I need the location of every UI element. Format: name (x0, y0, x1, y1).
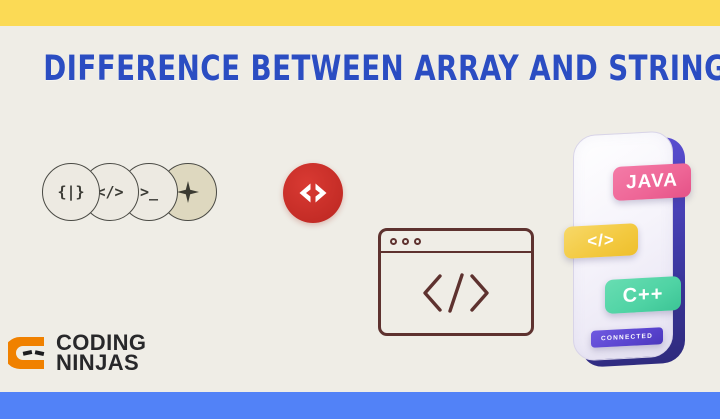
browser-code-window (378, 228, 534, 336)
chip-cpp-label: C++ (623, 282, 664, 307)
browser-content-area (381, 253, 531, 333)
browser-dot-1 (390, 238, 397, 245)
bottom-accent-band (0, 392, 720, 419)
browser-dot-3 (414, 238, 421, 245)
chip-code: </> (564, 223, 638, 259)
page-title: DIFFERENCE BETWEEN ARRAY AND STRING (43, 50, 677, 88)
top-accent-band (0, 0, 720, 26)
logo-line-2: NINJAS (56, 353, 146, 373)
coding-ninjas-wordmark: CODING NINJAS (56, 333, 146, 373)
chip-java-label: JAVA (626, 170, 678, 195)
browser-dot-2 (402, 238, 409, 245)
circle-glyph-2: </> (96, 183, 123, 201)
chip-java: JAVA (613, 163, 691, 201)
coding-ninjas-logo: CODING NINJAS (8, 333, 146, 373)
coding-ninjas-c-mark (8, 333, 48, 373)
thumbnail-canvas: DIFFERENCE BETWEEN ARRAY AND STRING {|} … (0, 0, 720, 419)
code-circle-cluster: {|} </> >_ (42, 163, 217, 225)
chip-code-label: </> (587, 230, 615, 251)
star-shape (177, 181, 199, 203)
browser-titlebar (381, 231, 531, 253)
circle-glyph-1: {|} (57, 183, 84, 201)
code-arrows-icon (283, 163, 343, 223)
chip-cpp: C++ (605, 276, 681, 314)
smartphone-3d: JAVA </> C++ CONNECTED (573, 133, 685, 365)
chip-connected-label: CONNECTED (601, 333, 653, 343)
braces-pipe-icon: {|} (42, 163, 100, 221)
circle-glyph-3: >_ (140, 183, 158, 201)
